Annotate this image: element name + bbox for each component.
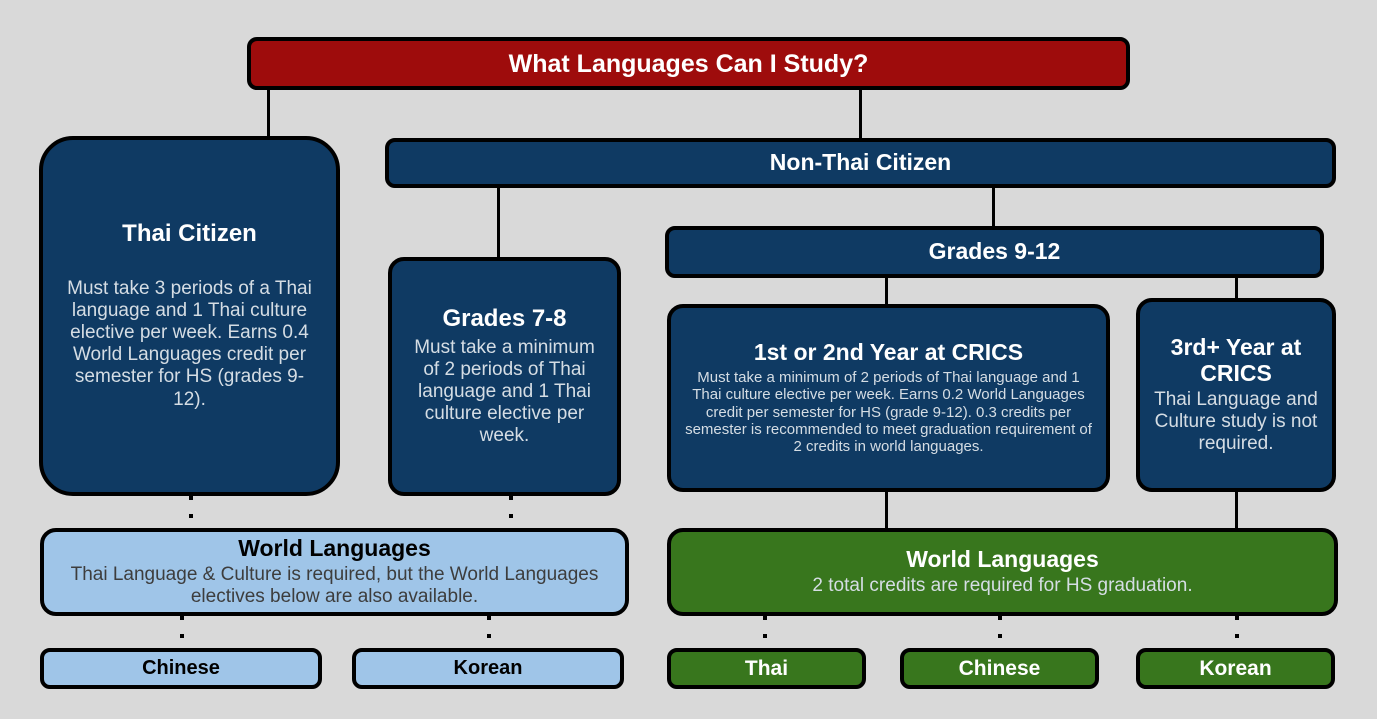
dotted-connector-blue-world-languages-to-chinese bbox=[180, 616, 184, 648]
node-first-or-second-year-at-crics-title: 1st or 2nd Year at CRICS bbox=[754, 340, 1023, 366]
node-third-plus-year-at-crics-title: 3rd+ Year at CRICS bbox=[1152, 335, 1320, 387]
node-root-question-title: What Languages Can I Study? bbox=[509, 50, 869, 78]
connector-first-second-year-to-green-world-languages bbox=[885, 492, 888, 532]
node-first-or-second-year-at-crics[interactable]: 1st or 2nd Year at CRICS Must take a min… bbox=[667, 304, 1110, 492]
node-world-languages-blue-title: World Languages bbox=[238, 536, 431, 562]
connector-non-thai-to-grades-9-12 bbox=[992, 186, 995, 226]
node-grades-9-12[interactable]: Grades 9-12 bbox=[665, 226, 1324, 278]
elective-green-chinese-label: Chinese bbox=[959, 657, 1041, 681]
elective-green-korean-label: Korean bbox=[1199, 657, 1271, 681]
node-world-languages-green-body: 2 total credits are required for HS grad… bbox=[812, 575, 1192, 597]
node-grades-7-8-body: Must take a minimum of 2 periods of Thai… bbox=[406, 337, 603, 447]
elective-blue-korean[interactable]: Korean bbox=[352, 648, 624, 689]
node-world-languages-green[interactable]: World Languages 2 total credits are requ… bbox=[667, 528, 1338, 616]
node-third-plus-year-at-crics[interactable]: 3rd+ Year at CRICS Thai Language and Cul… bbox=[1136, 298, 1336, 492]
elective-green-thai[interactable]: Thai bbox=[667, 648, 866, 689]
connector-non-thai-to-grades-7-8 bbox=[497, 186, 500, 258]
dotted-connector-green-world-languages-to-chinese bbox=[998, 616, 1002, 648]
dotted-connector-green-world-languages-to-thai bbox=[763, 616, 767, 648]
node-grades-9-12-title: Grades 9-12 bbox=[929, 239, 1061, 265]
node-third-plus-year-at-crics-body: Thai Language and Culture study is not r… bbox=[1152, 389, 1320, 455]
node-non-thai-citizen[interactable]: Non-Thai Citizen bbox=[385, 138, 1336, 188]
elective-green-chinese[interactable]: Chinese bbox=[900, 648, 1099, 689]
diagram-canvas: What Languages Can I Study? Thai Citizen… bbox=[0, 0, 1377, 719]
node-world-languages-blue-body: Thai Language & Culture is required, but… bbox=[56, 564, 613, 608]
connector-third-plus-year-to-green-world-languages bbox=[1235, 492, 1238, 532]
elective-blue-chinese-label: Chinese bbox=[142, 657, 220, 679]
elective-green-thai-label: Thai bbox=[745, 657, 788, 681]
elective-blue-chinese[interactable]: Chinese bbox=[40, 648, 322, 689]
dotted-connector-thai-citizen-to-blue-world-languages bbox=[189, 496, 193, 528]
dotted-connector-grades-7-8-to-blue-world-languages bbox=[509, 496, 513, 528]
dotted-connector-blue-world-languages-to-korean bbox=[487, 616, 491, 648]
connector-root-to-thai-citizen bbox=[267, 86, 270, 141]
connector-root-to-non-thai-citizen bbox=[859, 86, 862, 141]
node-non-thai-citizen-title: Non-Thai Citizen bbox=[770, 150, 951, 176]
node-thai-citizen-title: Thai Citizen bbox=[122, 221, 257, 248]
node-world-languages-blue[interactable]: World Languages Thai Language & Culture … bbox=[40, 528, 629, 616]
node-first-or-second-year-at-crics-body: Must take a minimum of 2 periods of Thai… bbox=[685, 369, 1092, 456]
node-world-languages-green-title: World Languages bbox=[906, 547, 1099, 573]
elective-green-korean[interactable]: Korean bbox=[1136, 648, 1335, 689]
dotted-connector-green-world-languages-to-korean bbox=[1235, 616, 1239, 648]
node-thai-citizen-body: Must take 3 periods of a Thai language a… bbox=[61, 278, 318, 410]
node-root-question[interactable]: What Languages Can I Study? bbox=[247, 37, 1130, 90]
node-thai-citizen[interactable]: Thai Citizen Must take 3 periods of a Th… bbox=[39, 136, 340, 496]
elective-blue-korean-label: Korean bbox=[454, 657, 523, 679]
node-grades-7-8-title: Grades 7-8 bbox=[442, 306, 566, 333]
node-grades-7-8[interactable]: Grades 7-8 Must take a minimum of 2 peri… bbox=[388, 257, 621, 496]
